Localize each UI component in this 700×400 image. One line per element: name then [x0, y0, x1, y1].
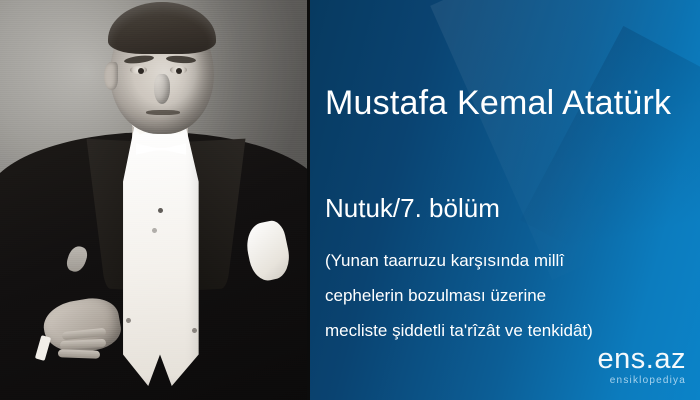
photo-grain-overlay: [0, 0, 310, 400]
page-subtitle: Nutuk/7. bölüm: [325, 193, 500, 224]
panel-sheen: [430, 0, 700, 280]
description-line: cephelerin bozulması üzerine: [325, 278, 695, 313]
description-block: (Yunan taarruzu karşısında millî cephele…: [325, 243, 695, 348]
site-logo[interactable]: ens.az ensiklopediya: [598, 345, 686, 386]
logo-wordmark: ens.az: [598, 345, 686, 374]
portrait-photo: [0, 0, 310, 400]
description-line: (Yunan taarruzu karşısında millî: [325, 243, 695, 278]
article-banner: Mustafa Kemal Atatürk Nutuk/7. bölüm (Yu…: [0, 0, 700, 400]
text-panel: Mustafa Kemal Atatürk Nutuk/7. bölüm (Yu…: [310, 0, 700, 400]
page-title: Mustafa Kemal Atatürk: [325, 84, 671, 123]
logo-tagline: ensiklopediya: [598, 376, 686, 386]
